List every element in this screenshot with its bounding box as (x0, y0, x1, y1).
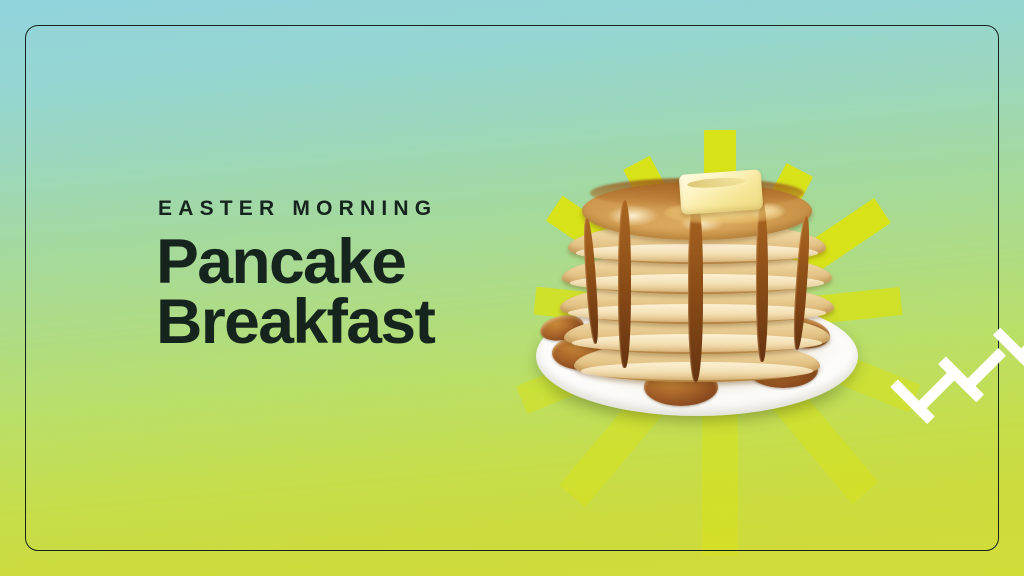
syrup-drip (688, 196, 703, 382)
syrup-drip (756, 202, 768, 362)
pancake-stack (560, 182, 834, 382)
syrup-drip (618, 200, 631, 368)
chevron-decoration-group (862, 246, 1022, 376)
pancake-stack-illustration (516, 176, 876, 426)
eyebrow-text: EASTER MORNING (158, 198, 556, 219)
headline-line-2: Breakfast (156, 293, 564, 353)
headline-line-1: Pancake (156, 233, 564, 293)
butter-pat (679, 169, 764, 215)
poster-canvas: EASTER MORNING Pancake Breakfast (0, 0, 1024, 576)
copy-block: EASTER MORNING Pancake Breakfast (156, 198, 556, 353)
